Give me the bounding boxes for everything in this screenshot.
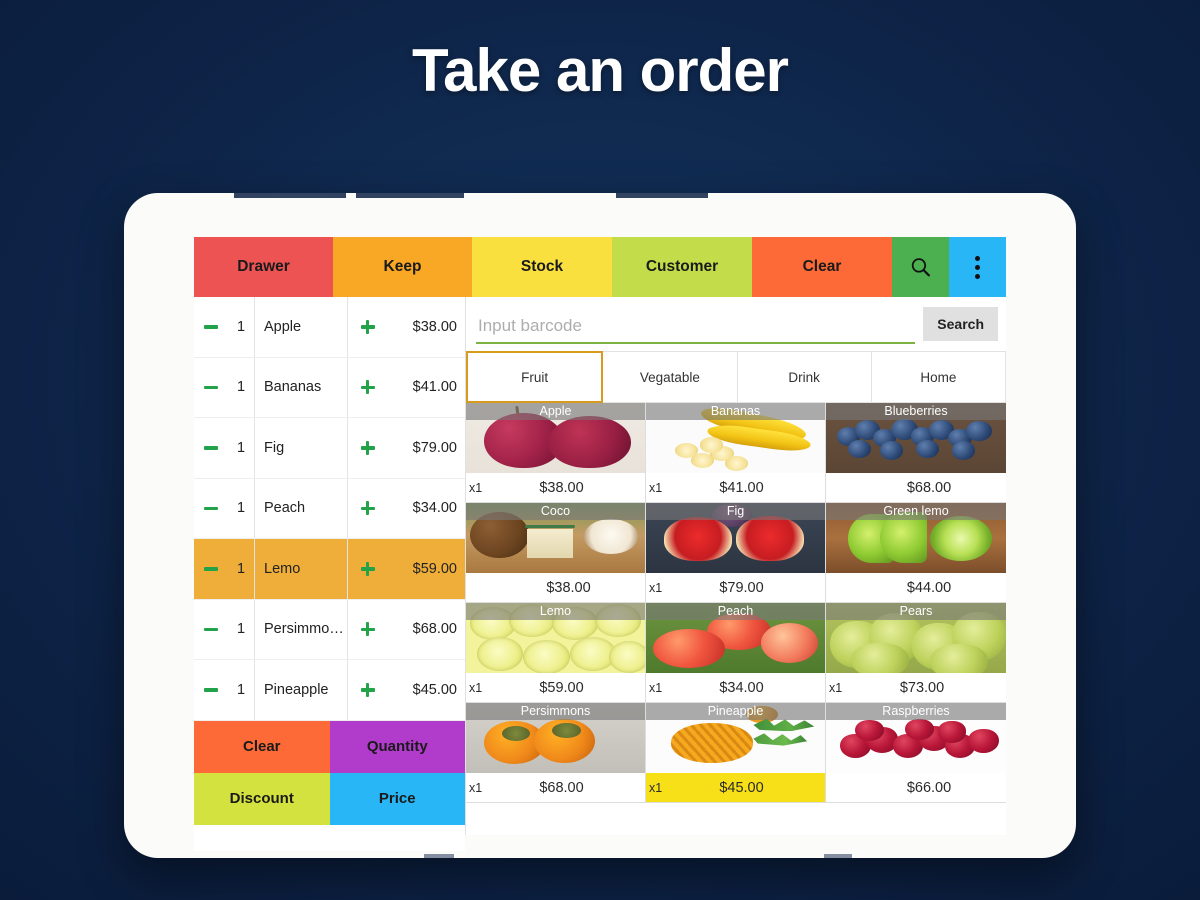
barcode-input[interactable] bbox=[476, 313, 915, 344]
order-row-price: $79.00 bbox=[387, 440, 465, 456]
product-footer: x1 $68.00 bbox=[466, 773, 645, 802]
decrease-quantity-button[interactable] bbox=[194, 386, 228, 390]
order-row-quantity: 1 bbox=[228, 440, 254, 456]
order-row-price: $68.00 bbox=[387, 621, 465, 637]
plus-icon bbox=[361, 628, 375, 632]
discount-button[interactable]: Discount bbox=[194, 773, 330, 825]
category-tab-fruit[interactable]: Fruit bbox=[466, 351, 603, 403]
order-panel-filler bbox=[194, 825, 465, 851]
order-row-quantity: 1 bbox=[228, 379, 254, 395]
order-row[interactable]: 1 Bananas $41.00 bbox=[194, 358, 465, 419]
edit-price-button[interactable]: Price bbox=[330, 773, 466, 825]
order-row[interactable]: 1 Persimmo… $68.00 bbox=[194, 600, 465, 661]
search-icon bbox=[908, 255, 933, 280]
product-quantity: x1 bbox=[466, 481, 492, 495]
order-row-quantity: 1 bbox=[228, 500, 254, 516]
order-row-name: Peach bbox=[254, 479, 347, 539]
product-quantity: x1 bbox=[466, 781, 492, 795]
tablet-top-notch bbox=[356, 193, 464, 198]
minus-icon bbox=[204, 325, 218, 329]
product-quantity: x1 bbox=[466, 681, 492, 695]
tablet-bottom-notch bbox=[424, 854, 454, 858]
order-row[interactable]: 1 Apple $38.00 bbox=[194, 297, 465, 358]
product-quantity: x1 bbox=[646, 781, 672, 795]
product-name: Apple bbox=[466, 403, 645, 420]
barcode-input-wrapper bbox=[476, 305, 915, 344]
product-name: Raspberries bbox=[826, 703, 1006, 720]
decrease-quantity-button[interactable] bbox=[194, 446, 228, 450]
product-name: Blueberries bbox=[826, 403, 1006, 420]
plus-icon bbox=[361, 386, 375, 390]
search-icon-button[interactable] bbox=[892, 237, 949, 297]
minus-icon bbox=[204, 567, 218, 571]
decrease-quantity-button[interactable] bbox=[194, 325, 228, 329]
product-card[interactable]: Raspberries $66.00 bbox=[826, 703, 1006, 803]
order-row-quantity: 1 bbox=[228, 682, 254, 698]
order-row-price: $41.00 bbox=[387, 379, 465, 395]
barcode-search-bar: Search bbox=[466, 297, 1006, 351]
product-name: Pears bbox=[826, 603, 1006, 620]
order-row-quantity: 1 bbox=[228, 319, 254, 335]
plus-icon bbox=[361, 325, 375, 329]
product-footer: $38.00 bbox=[466, 573, 645, 602]
minus-icon bbox=[204, 446, 218, 450]
decrease-quantity-button[interactable] bbox=[194, 567, 228, 571]
product-footer: $68.00 bbox=[826, 473, 1006, 502]
category-tab-drink[interactable]: Drink bbox=[738, 351, 872, 403]
order-row[interactable]: 1 Fig $79.00 bbox=[194, 418, 465, 479]
product-footer: x1 $59.00 bbox=[466, 673, 645, 702]
order-row-name: Pineapple bbox=[254, 660, 347, 720]
product-card[interactable]: Coco $38.00 bbox=[466, 503, 646, 603]
plus-icon bbox=[361, 688, 375, 692]
overflow-menu-icon bbox=[975, 256, 980, 279]
overflow-menu-button[interactable] bbox=[949, 237, 1006, 297]
tablet-device-frame: Drawer Keep Stock Customer Clear bbox=[124, 193, 1076, 858]
product-quantity: x1 bbox=[646, 481, 672, 495]
order-action-pad: Clear Quantity Discount Price bbox=[194, 721, 465, 825]
product-price: $73.00 bbox=[852, 680, 1006, 696]
product-card[interactable]: Pineapple x1 $45.00 bbox=[646, 703, 826, 803]
increase-quantity-button[interactable] bbox=[347, 479, 387, 539]
order-row-selected[interactable]: 1 Lemo $59.00 bbox=[194, 539, 465, 600]
order-row-price: $38.00 bbox=[387, 319, 465, 335]
product-footer: x1 $41.00 bbox=[646, 473, 825, 502]
category-tab-vegatable[interactable]: Vegatable bbox=[603, 351, 737, 403]
product-grid: Apple x1 $38.00 bbox=[466, 403, 1006, 835]
product-price: $34.00 bbox=[672, 680, 825, 696]
product-footer: $44.00 bbox=[826, 573, 1006, 602]
order-row-quantity: 1 bbox=[228, 621, 254, 637]
toolbar-button-keep[interactable]: Keep bbox=[333, 237, 472, 297]
product-price: $45.00 bbox=[672, 780, 825, 796]
product-card[interactable]: Peach x1 $34.00 bbox=[646, 603, 826, 703]
edit-quantity-button[interactable]: Quantity bbox=[330, 721, 466, 773]
product-price: $59.00 bbox=[492, 680, 645, 696]
product-card[interactable]: Pears x1 $73.00 bbox=[826, 603, 1006, 703]
minus-icon bbox=[204, 386, 218, 390]
category-tabs: Fruit Vegatable Drink Home bbox=[466, 351, 1006, 403]
decrease-quantity-button[interactable] bbox=[194, 628, 228, 632]
increase-quantity-button[interactable] bbox=[347, 539, 387, 599]
order-row-price: $59.00 bbox=[387, 561, 465, 577]
product-card[interactable]: Blueberries $68.00 bbox=[826, 403, 1006, 503]
order-row[interactable]: 1 Pineapple $45.00 bbox=[194, 660, 465, 721]
increase-quantity-button[interactable] bbox=[347, 600, 387, 660]
increase-quantity-button[interactable] bbox=[347, 358, 387, 418]
product-card[interactable]: Bananas x1 $41.00 bbox=[646, 403, 826, 503]
product-name: Fig bbox=[646, 503, 825, 520]
product-card[interactable]: Persimmons x1 $68.00 bbox=[466, 703, 646, 803]
product-name: Pineapple bbox=[646, 703, 825, 720]
tablet-bottom-notch bbox=[824, 854, 852, 858]
plus-icon bbox=[361, 446, 375, 450]
order-row-price: $45.00 bbox=[387, 682, 465, 698]
product-card[interactable]: Apple x1 $38.00 bbox=[466, 403, 646, 503]
category-tab-home[interactable]: Home bbox=[872, 351, 1006, 403]
page-title: Take an order bbox=[0, 36, 1200, 105]
product-footer: x1 $79.00 bbox=[646, 573, 825, 602]
product-name: Persimmons bbox=[466, 703, 645, 720]
product-footer: $66.00 bbox=[826, 773, 1006, 802]
decrease-quantity-button[interactable] bbox=[194, 688, 228, 692]
minus-icon bbox=[204, 688, 218, 692]
increase-quantity-button[interactable] bbox=[347, 660, 387, 720]
product-quantity: x1 bbox=[646, 681, 672, 695]
product-footer: x1 $73.00 bbox=[826, 673, 1006, 702]
toolbar-button-drawer[interactable]: Drawer bbox=[194, 237, 333, 297]
decrease-quantity-button[interactable] bbox=[194, 507, 228, 511]
top-toolbar: Drawer Keep Stock Customer Clear bbox=[194, 237, 1006, 297]
product-price: $66.00 bbox=[852, 780, 1006, 796]
product-quantity: x1 bbox=[646, 581, 672, 595]
order-row-name: Bananas bbox=[254, 358, 347, 418]
tablet-top-notch bbox=[616, 193, 708, 198]
product-name: Coco bbox=[466, 503, 645, 520]
product-name: Green lemo bbox=[826, 503, 1006, 520]
product-price: $38.00 bbox=[492, 480, 645, 496]
product-price: $41.00 bbox=[672, 480, 825, 496]
product-card[interactable]: Fig x1 $79.00 bbox=[646, 503, 826, 603]
minus-icon bbox=[204, 628, 218, 632]
product-card[interactable]: Green lemo $44.00 bbox=[826, 503, 1006, 603]
product-name: Peach bbox=[646, 603, 825, 620]
order-row[interactable]: 1 Peach $34.00 bbox=[194, 479, 465, 540]
minus-icon bbox=[204, 507, 218, 511]
toolbar-button-customer[interactable]: Customer bbox=[612, 237, 752, 297]
tablet-top-notch bbox=[234, 193, 346, 198]
toolbar-button-clear[interactable]: Clear bbox=[752, 237, 892, 297]
product-price: $79.00 bbox=[672, 580, 825, 596]
toolbar-button-stock[interactable]: Stock bbox=[472, 237, 612, 297]
pos-app-screen: Drawer Keep Stock Customer Clear bbox=[194, 237, 1006, 835]
order-item-list: 1 Apple $38.00 1 Bananas $41.00 bbox=[194, 297, 465, 721]
clear-order-button[interactable]: Clear bbox=[194, 721, 330, 773]
search-button[interactable]: Search bbox=[923, 307, 998, 341]
product-price: $44.00 bbox=[852, 580, 1006, 596]
order-row-name: Fig bbox=[254, 418, 347, 478]
product-price: $68.00 bbox=[492, 780, 645, 796]
product-footer: x1 $38.00 bbox=[466, 473, 645, 502]
increase-quantity-button[interactable] bbox=[347, 418, 387, 478]
product-name: Lemo bbox=[466, 603, 645, 620]
increase-quantity-button[interactable] bbox=[347, 297, 387, 357]
app-body: 1 Apple $38.00 1 Bananas $41.00 bbox=[194, 297, 1006, 835]
plus-icon bbox=[361, 507, 375, 511]
order-panel: 1 Apple $38.00 1 Bananas $41.00 bbox=[194, 297, 466, 835]
order-row-name: Persimmo… bbox=[254, 600, 347, 660]
product-card[interactable]: Lemo x1 $59.00 bbox=[466, 603, 646, 703]
order-row-price: $34.00 bbox=[387, 500, 465, 516]
order-row-name: Apple bbox=[254, 297, 347, 357]
plus-icon bbox=[361, 567, 375, 571]
catalog-panel: Search Fruit Vegatable Drink Home bbox=[466, 297, 1006, 835]
order-row-quantity: 1 bbox=[228, 561, 254, 577]
product-price: $68.00 bbox=[852, 480, 1006, 496]
product-name: Bananas bbox=[646, 403, 825, 420]
product-quantity: x1 bbox=[826, 681, 852, 695]
order-row-name: Lemo bbox=[254, 539, 347, 599]
product-footer: x1 $45.00 bbox=[646, 773, 825, 802]
product-footer: x1 $34.00 bbox=[646, 673, 825, 702]
product-price: $38.00 bbox=[492, 580, 645, 596]
